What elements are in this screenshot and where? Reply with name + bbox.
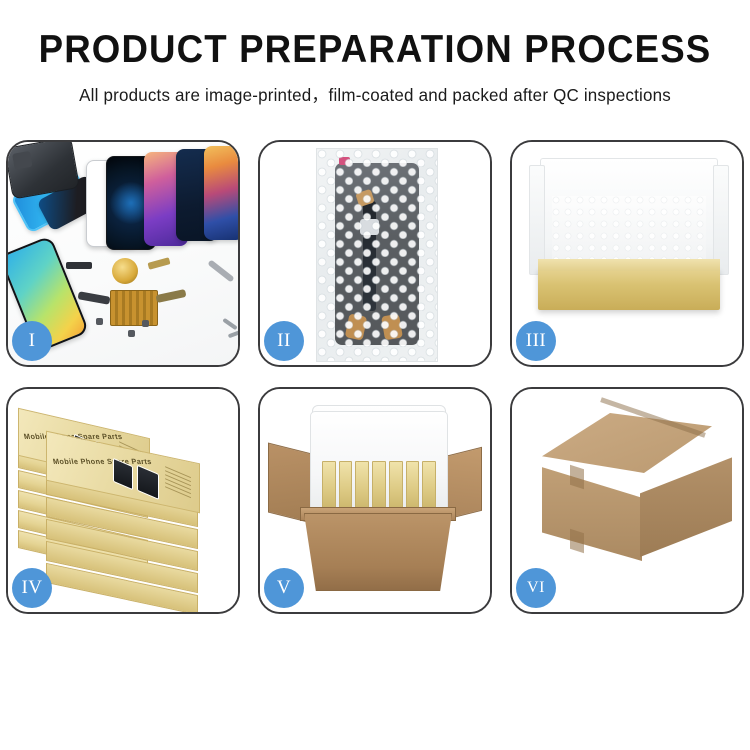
step-badge-6: VI [516,568,556,608]
small-part-icon [128,330,135,337]
step-badge-3: III [516,321,556,361]
step-badge-5: V [264,568,304,608]
page-subtitle: All products are image-printed，film-coat… [11,82,739,107]
kraft-box-tray-icon [538,268,720,310]
small-part-icon [96,318,103,325]
step-badge-2: II [264,321,304,361]
header: PRODUCT PREPARATION PROCESS All products… [0,0,750,107]
bubble-texture [317,149,437,361]
step-badge-1: I [12,321,52,361]
flex-cable-right-icon [155,289,186,303]
carton-left-face-icon [542,459,642,561]
product-preparation-infographic: PRODUCT PREPARATION PROCESS All products… [0,0,750,750]
bubble-wrap-bag [316,148,438,362]
box-screen-print-icon [137,465,159,500]
process-step-2: II [258,140,492,367]
process-step-1: I [6,140,240,367]
yellow-boxes-row [322,461,436,509]
carton-tape-upper-icon [570,465,584,490]
process-step-3: III [510,140,744,367]
carton-right-face-icon [640,451,732,557]
step-badge-4: IV [12,568,52,608]
gold-bar-icon [147,257,170,269]
page-title: PRODUCT PREPARATION PROCESS [23,30,728,69]
carton-tape-lower-icon [570,529,584,554]
box-spec-lines [165,466,191,501]
tweezers-icon [228,330,238,339]
flex-cable-left-icon [78,291,111,304]
process-step-grid: I II [6,140,744,614]
screwdriver-icon [222,318,237,330]
chip-grid-part-icon [110,290,158,326]
small-part-icon [142,320,149,327]
tool-icon [207,259,234,282]
process-step-5: V [258,387,492,614]
carton-body-icon [304,513,452,591]
phone-sunset-gradient-icon [204,146,238,240]
carton-top-face-icon [542,413,712,473]
process-step-4: Mobile Phone Spare Parts [6,387,240,614]
process-step-6: VI [510,387,744,614]
gold-coil-part-icon [112,258,138,284]
connector-bar-icon [66,262,92,269]
